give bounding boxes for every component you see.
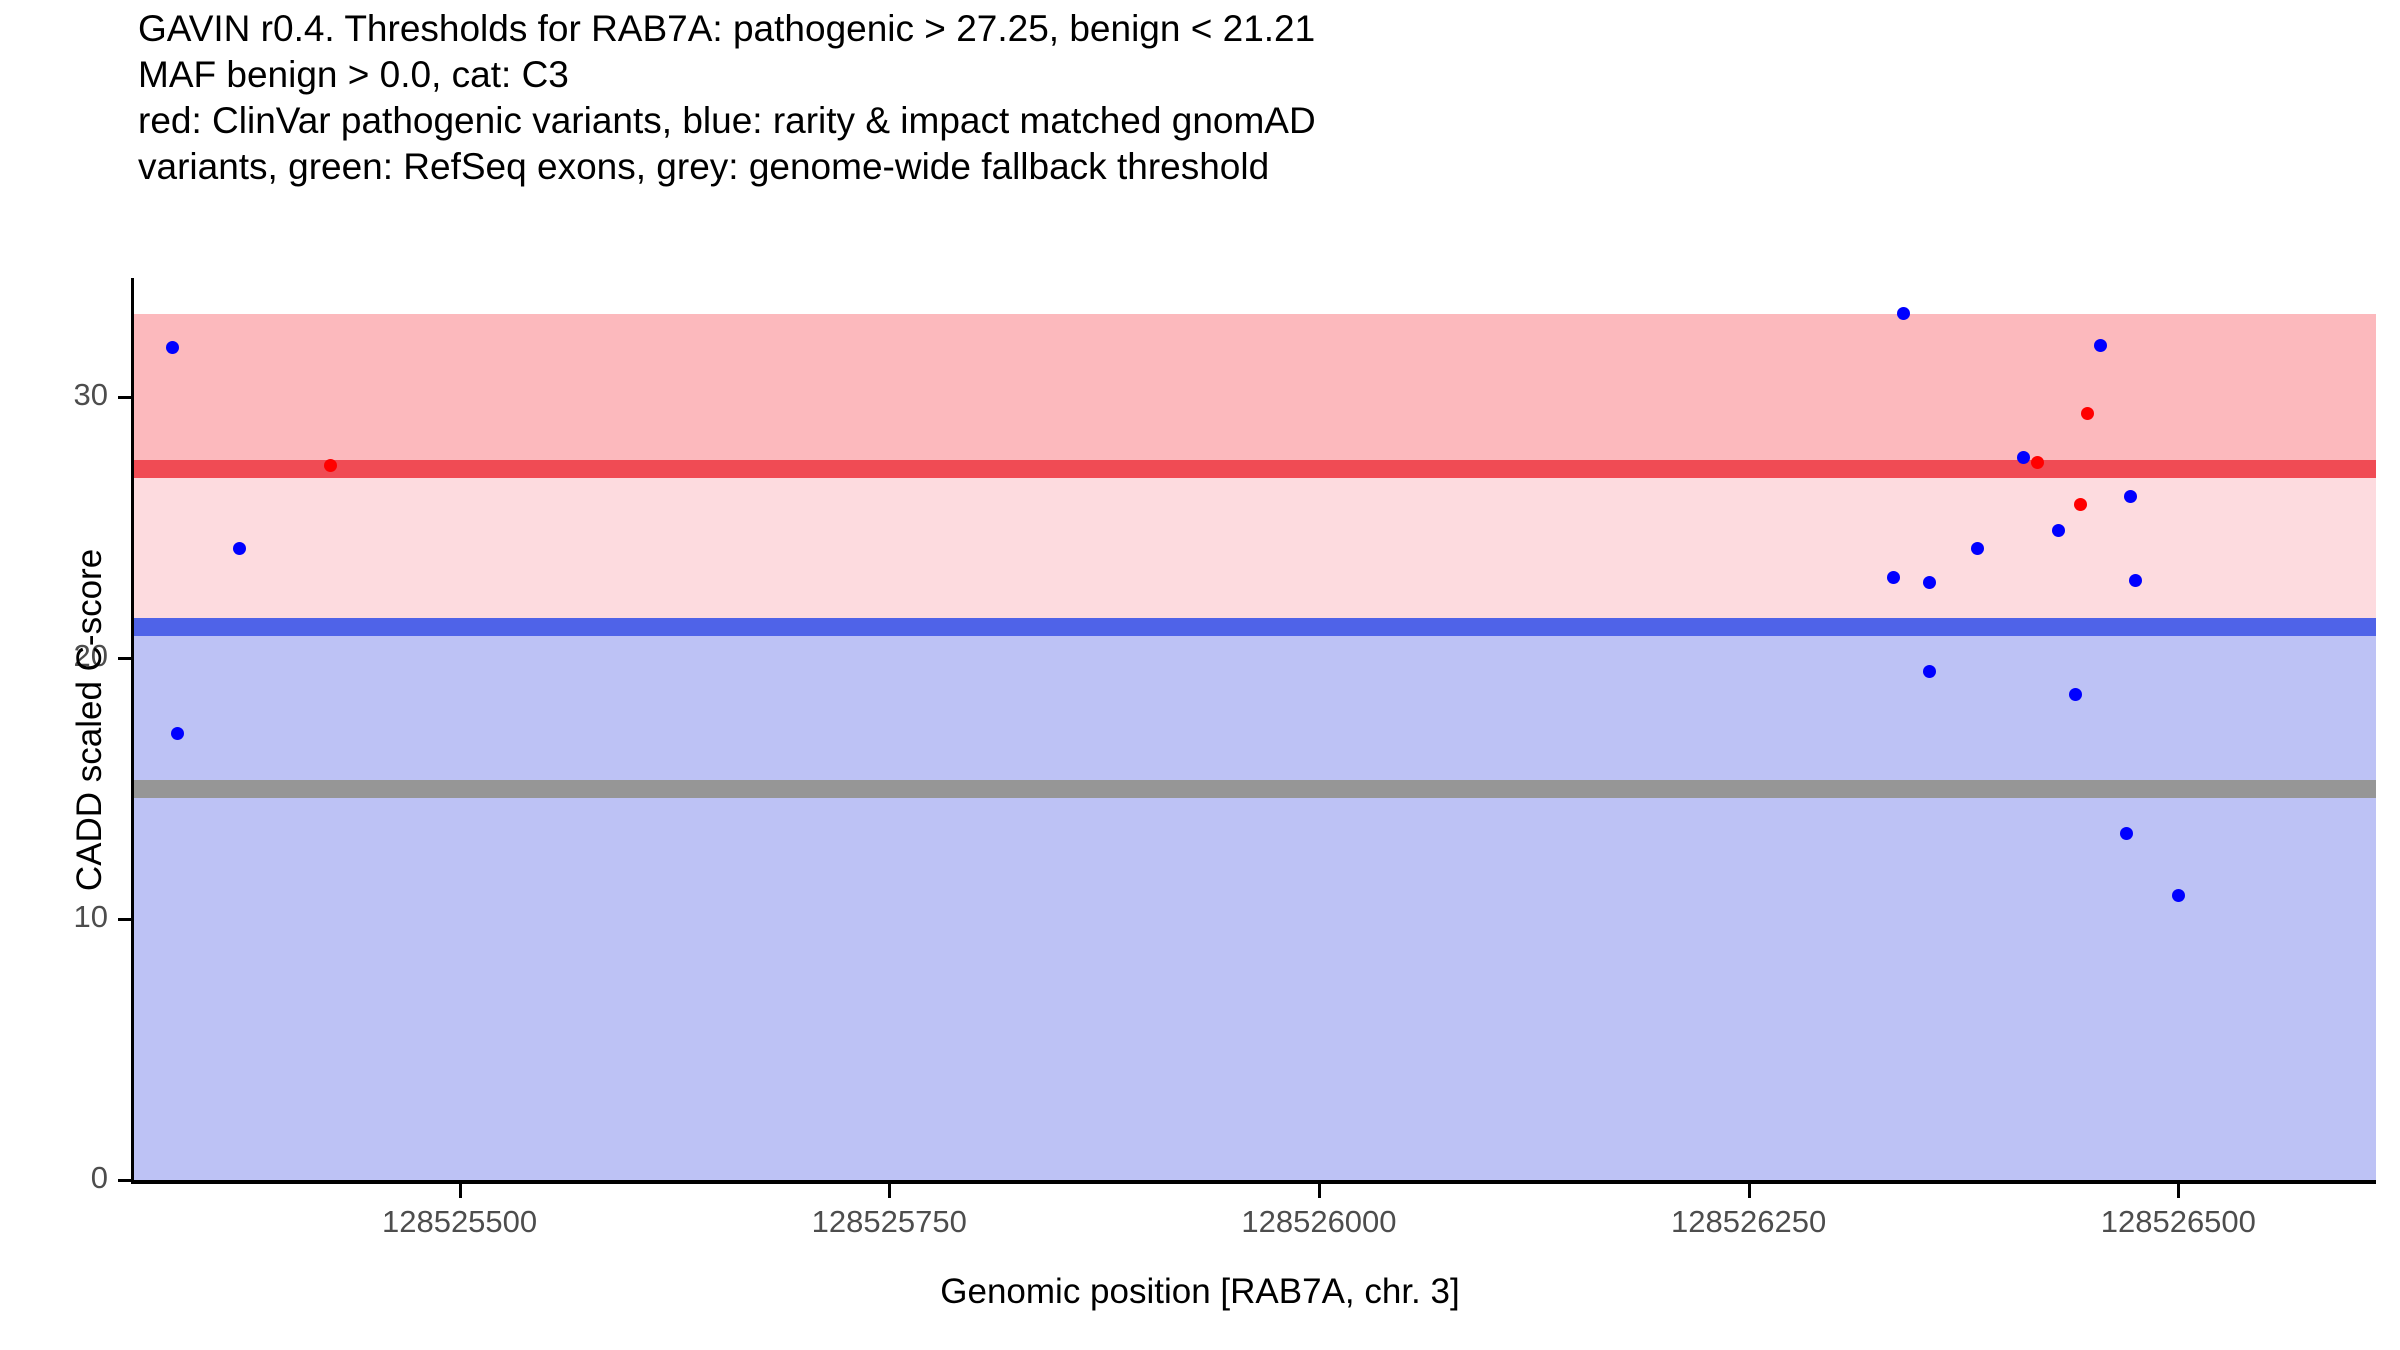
band-pathogenic-zone [133, 314, 2376, 469]
y-axis-line [131, 278, 134, 1182]
chart-title-line-4: variants, green: RefSeq exons, grey: gen… [138, 144, 2288, 190]
threshold-line-benign [133, 618, 2376, 636]
x-tick-mark [888, 1184, 891, 1198]
y-tick-mark [118, 1179, 131, 1182]
x-tick-mark [1318, 1184, 1321, 1198]
y-tick-mark [118, 657, 131, 660]
threshold-line-genome-wide-fallback [133, 780, 2376, 798]
x-tick-label: 128525500 [382, 1204, 537, 1240]
point-pathogenic [2081, 407, 2094, 420]
chart-title-line-1: GAVIN r0.4. Thresholds for RAB7A: pathog… [138, 6, 2288, 52]
x-tick-label: 128526250 [1671, 1204, 1826, 1240]
point-population [2052, 524, 2065, 537]
chart-title-block: GAVIN r0.4. Thresholds for RAB7A: pathog… [138, 6, 2288, 190]
point-population [2069, 688, 2082, 701]
x-tick-label: 128526500 [2101, 1204, 2256, 1240]
point-population [2124, 490, 2137, 503]
x-tick-label: 128526000 [1241, 1204, 1396, 1240]
chart-title-line-2: MAF benign > 0.0, cat: C3 [138, 52, 2288, 98]
x-tick-mark [2177, 1184, 2180, 1198]
band-ambiguous-zone [133, 469, 2376, 627]
point-population [2172, 889, 2185, 902]
y-tick-mark [118, 396, 131, 399]
point-pathogenic [2074, 498, 2087, 511]
point-population [1923, 665, 1936, 678]
chart-root: GAVIN r0.4. Thresholds for RAB7A: pathog… [0, 0, 2400, 1350]
x-tick-mark [459, 1184, 462, 1198]
point-population [2120, 827, 2133, 840]
x-tick-label: 128525750 [812, 1204, 967, 1240]
plot-panel [133, 280, 2376, 1180]
band-benign-zone [133, 627, 2376, 1180]
point-pathogenic [324, 459, 337, 472]
chart-title-line-3: red: ClinVar pathogenic variants, blue: … [138, 98, 2288, 144]
x-tick-mark [1748, 1184, 1751, 1198]
x-axis-line [131, 1180, 2376, 1184]
y-tick-mark [118, 918, 131, 921]
point-population [2017, 451, 2030, 464]
y-axis-title: CADD scaled C-score [70, 270, 110, 1170]
point-population [1923, 576, 1936, 589]
point-pathogenic [2031, 456, 2044, 469]
point-population [1971, 542, 1984, 555]
point-population [1887, 571, 1900, 584]
point-population [2129, 574, 2142, 587]
x-axis-title: Genomic position [RAB7A, chr. 3] [0, 1272, 2400, 1312]
